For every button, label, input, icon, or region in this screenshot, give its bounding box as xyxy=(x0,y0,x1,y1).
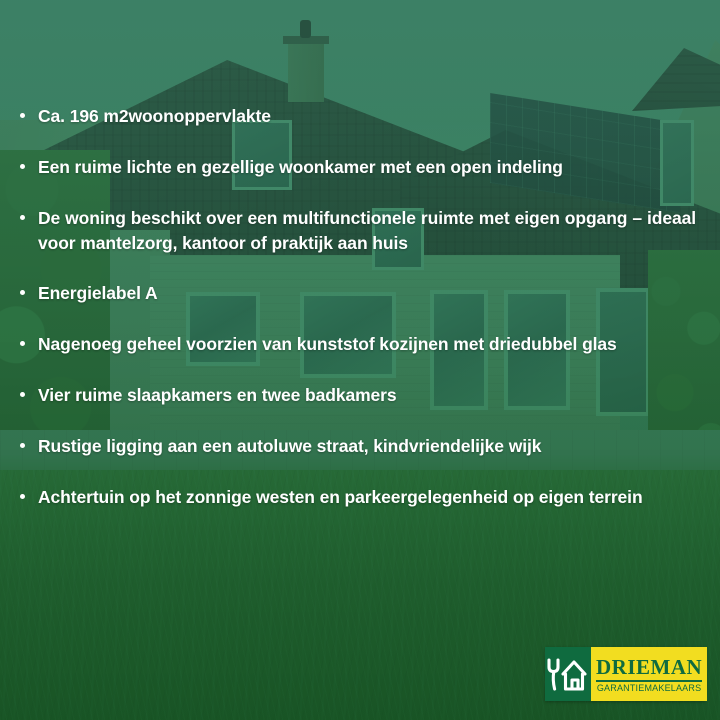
list-item-text: Vier ruime slaapkamers en twee badkamers xyxy=(38,383,696,408)
list-item: Ca. 196 m2woonoppervlakte xyxy=(18,104,696,129)
list-item-text: Nagenoeg geheel voorzien van kunststof k… xyxy=(38,332,696,357)
bullet-dot-icon xyxy=(20,164,25,169)
list-item: Energielabel A xyxy=(18,281,696,306)
bullet-dot-icon xyxy=(20,113,25,118)
bullet-dot-icon xyxy=(20,215,25,220)
content-area: Ca. 196 m2woonoppervlakte Een ruime lich… xyxy=(0,0,720,720)
logo-plate: DRIEMAN GARANTIEMAKELAARS xyxy=(591,647,707,701)
list-item: Nagenoeg geheel voorzien van kunststof k… xyxy=(18,332,696,357)
list-item-text: De woning beschikt over een multifunctio… xyxy=(38,206,696,256)
bullet-dot-icon xyxy=(20,443,25,448)
bullet-dot-icon xyxy=(20,392,25,397)
drieman-logo: DRIEMAN GARANTIEMAKELAARS xyxy=(545,647,705,701)
logo-name: DRIEMAN xyxy=(596,657,702,678)
list-item: Rustige ligging aan een autoluwe straat,… xyxy=(18,434,696,459)
logo-divider xyxy=(596,680,702,682)
list-item-text: Energielabel A xyxy=(38,281,696,306)
bullet-dot-icon xyxy=(20,341,25,346)
logo-tagline: GARANTIEMAKELAARS xyxy=(597,684,701,693)
logo-mark xyxy=(545,647,591,701)
tulip-and-house-icon xyxy=(545,656,591,692)
bullet-dot-icon xyxy=(20,290,25,295)
list-item-text: Rustige ligging aan een autoluwe straat,… xyxy=(38,434,696,459)
list-item-text: Een ruime lichte en gezellige woonkamer … xyxy=(38,155,696,180)
slide-root: Ca. 196 m2woonoppervlakte Een ruime lich… xyxy=(0,0,720,720)
list-item: De woning beschikt over een multifunctio… xyxy=(18,206,696,256)
bullet-dot-icon xyxy=(20,494,25,499)
feature-list: Ca. 196 m2woonoppervlakte Een ruime lich… xyxy=(18,104,696,510)
list-item: Een ruime lichte en gezellige woonkamer … xyxy=(18,155,696,180)
list-item: Achtertuin op het zonnige westen en park… xyxy=(18,485,696,510)
list-item-text: Achtertuin op het zonnige westen en park… xyxy=(38,485,696,510)
list-item: Vier ruime slaapkamers en twee badkamers xyxy=(18,383,696,408)
list-item-text: Ca. 196 m2woonoppervlakte xyxy=(38,104,696,129)
